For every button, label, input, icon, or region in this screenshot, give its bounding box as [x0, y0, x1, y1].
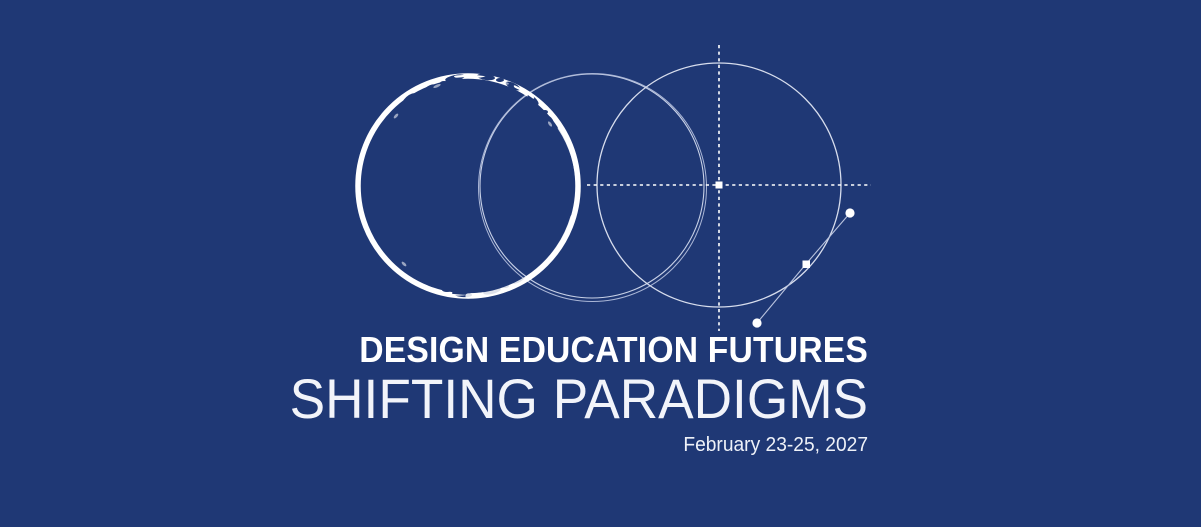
subhead: SHIFTING PARADIGMS: [43, 370, 868, 428]
handle-line-upper: [806, 213, 850, 264]
headline: DESIGN EDUCATION FUTURES: [56, 330, 868, 370]
event-date: February 23-25, 2027: [35, 432, 868, 458]
center-anchor-square: [716, 182, 723, 189]
bezier-anchor-square: [803, 261, 811, 269]
middle-circle: [479, 74, 707, 302]
poster-canvas: DESIGN EDUCATION FUTURES SHIFTING PARADI…: [0, 0, 1201, 527]
rough-brush-circle: [358, 76, 578, 298]
bezier-handle-dot-lower: [752, 318, 761, 327]
bezier-handle-dot-upper: [845, 208, 854, 217]
bezier-handle-group: [752, 208, 854, 327]
crosshair-guides: [587, 45, 871, 331]
handle-line-lower: [757, 264, 806, 323]
title-block: DESIGN EDUCATION FUTURES SHIFTING PARADI…: [0, 330, 868, 458]
